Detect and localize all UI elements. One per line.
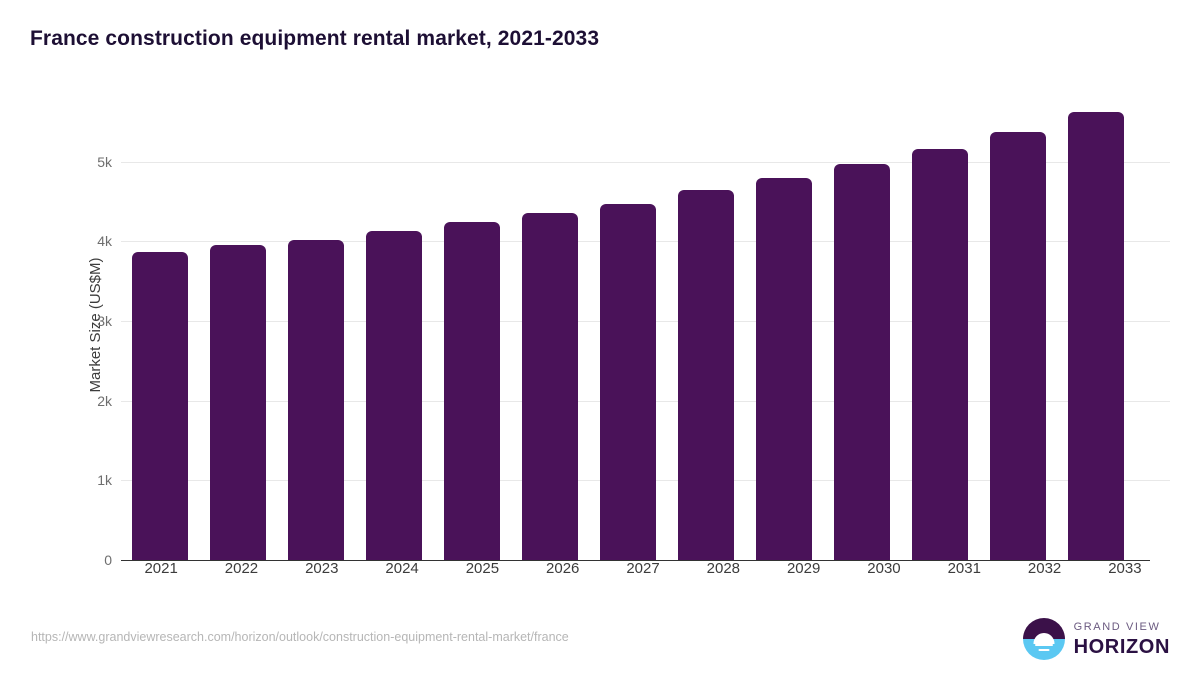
horizon-line-2 <box>1038 649 1049 652</box>
bar-slot <box>589 90 667 560</box>
bar-slot <box>1057 90 1135 560</box>
x-axis-tick-label: 2027 <box>603 560 683 586</box>
sun-shape <box>1033 633 1054 644</box>
x-axis-tick-label: 2029 <box>764 560 844 586</box>
y-axis-tick-label: 5k <box>80 154 112 170</box>
bar-2025[interactable] <box>444 222 500 560</box>
brand-name-primary: GRAND VIEW <box>1074 622 1170 633</box>
y-axis-tick-label: 2k <box>80 393 112 409</box>
bar-2032[interactable] <box>990 132 1046 560</box>
x-axis-tick-label: 2030 <box>844 560 924 586</box>
bar-slot <box>901 90 979 560</box>
bar-2030[interactable] <box>834 164 890 560</box>
bar-2023[interactable] <box>288 240 344 560</box>
bar-slot <box>277 90 355 560</box>
bar-2022[interactable] <box>210 245 266 560</box>
x-axis-tick-label: 2023 <box>282 560 362 586</box>
bar-slot <box>667 90 745 560</box>
bar-2026[interactable] <box>522 213 578 560</box>
bar-2021[interactable] <box>132 252 188 560</box>
x-axis-tick-label: 2032 <box>1004 560 1084 586</box>
y-axis-tick-label: 4k <box>80 233 112 249</box>
x-axis-tick-label: 2025 <box>442 560 522 586</box>
bar-slot <box>355 90 433 560</box>
bar-series <box>121 90 1135 560</box>
horizon-sun-circle-icon <box>1023 618 1065 660</box>
bar-slot <box>979 90 1057 560</box>
page-title: France construction equipment rental mar… <box>30 27 599 51</box>
bar-2033[interactable] <box>1068 112 1124 560</box>
x-axis-tick-label: 2021 <box>121 560 201 586</box>
bar-2027[interactable] <box>600 204 656 560</box>
y-axis-tick-label: 1k <box>80 472 112 488</box>
bar-2024[interactable] <box>366 231 422 560</box>
horizon-line-1 <box>1035 644 1053 647</box>
x-axis-tick-label: 2031 <box>924 560 1004 586</box>
brand-name-secondary: HORIZON <box>1074 637 1170 657</box>
x-axis-tick-label: 2026 <box>523 560 603 586</box>
x-axis-tick-label: 2028 <box>683 560 763 586</box>
x-axis-tick-label: 2033 <box>1085 560 1165 586</box>
bar-slot <box>433 90 511 560</box>
bar-slot <box>745 90 823 560</box>
plot-area: Market Size (US$M) 01k2k3k4k5k <box>80 90 1170 560</box>
bar-2029[interactable] <box>756 178 812 560</box>
x-axis-tick-label: 2024 <box>362 560 442 586</box>
brand-logo: GRAND VIEW HORIZON <box>1023 618 1170 660</box>
x-axis-tick-labels: 2021202220232024202520262027202820292030… <box>121 560 1165 586</box>
bar-slot <box>199 90 277 560</box>
brand-logo-text: GRAND VIEW HORIZON <box>1074 622 1170 657</box>
bar-slot <box>511 90 589 560</box>
source-url[interactable]: https://www.grandviewresearch.com/horizo… <box>31 630 569 644</box>
bar-2031[interactable] <box>912 149 968 560</box>
x-axis-tick-label: 2022 <box>201 560 281 586</box>
y-axis-tick-label: 3k <box>80 313 112 329</box>
chart-card: France construction equipment rental mar… <box>0 0 1200 675</box>
bar-2028[interactable] <box>678 190 734 560</box>
bar-slot <box>823 90 901 560</box>
bar-slot <box>121 90 199 560</box>
y-axis-tick-label: 0 <box>80 552 112 568</box>
